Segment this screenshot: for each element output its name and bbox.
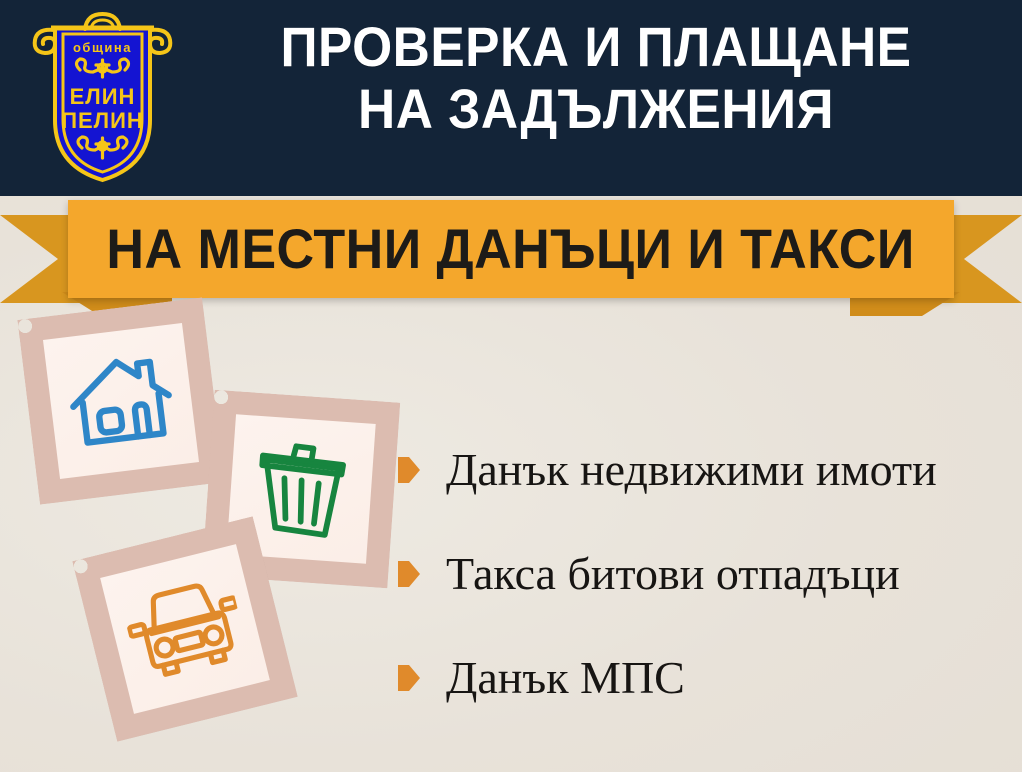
ribbon-band: НА МЕСТНИ ДАНЪЦИ И ТАКСИ bbox=[68, 200, 954, 298]
elin-pelin-municipality-crest: община ЕЛИН ПЕЛИН bbox=[25, 8, 180, 186]
arrow-bullet-icon bbox=[398, 665, 420, 691]
page-title-line-2: НА ЗАДЪЛЖЕНИЯ bbox=[219, 78, 973, 140]
crest-top-label: община bbox=[73, 40, 132, 55]
list-item[interactable]: Данък недвижими имоти bbox=[398, 418, 1008, 522]
header-banner: община ЕЛИН ПЕЛИН ПРОВЕРКА И ПЛАЩАНЕ НА … bbox=[0, 0, 1022, 196]
header-title-block: ПРОВЕРКА И ПЛАЩАНЕ НА ЗАДЪЛЖЕНИЯ bbox=[186, 16, 1006, 140]
list-item[interactable]: Данък МПС bbox=[398, 626, 1008, 730]
poster: община ЕЛИН ПЕЛИН ПРОВЕРКА И ПЛАЩАНЕ НА … bbox=[0, 0, 1022, 772]
car-front-icon bbox=[120, 572, 250, 686]
ribbon-subtitle: НА МЕСТНИ ДАНЪЦИ И ТАКСИ bbox=[107, 220, 915, 278]
crest-name-line2: ПЕЛИН bbox=[61, 108, 144, 133]
stamp-card-house bbox=[17, 297, 224, 504]
list-item-label: Данък недвижими имоти bbox=[446, 445, 937, 495]
list-item[interactable]: Такса битови отпадъци bbox=[398, 522, 1008, 626]
crest-name-line1: ЕЛИН bbox=[70, 84, 136, 109]
subtitle-ribbon: НА МЕСТНИ ДАНЪЦИ И ТАКСИ bbox=[0, 196, 1022, 308]
arrow-bullet-icon bbox=[398, 561, 420, 587]
page-title-line-1: ПРОВЕРКА И ПЛАЩАНЕ bbox=[219, 16, 973, 78]
house-icon bbox=[61, 346, 180, 456]
trash-bin-icon bbox=[249, 434, 352, 544]
stamp-illustrations bbox=[0, 300, 420, 772]
list-item-label: Такса битови отпадъци bbox=[446, 549, 900, 599]
tax-type-list: Данък недвижими имоти Такса битови отпад… bbox=[398, 418, 1008, 730]
stamp-paper bbox=[43, 323, 199, 479]
stamp-paper bbox=[100, 544, 270, 714]
list-item-label: Данък МПС bbox=[446, 653, 685, 703]
arrow-bullet-icon bbox=[398, 457, 420, 483]
